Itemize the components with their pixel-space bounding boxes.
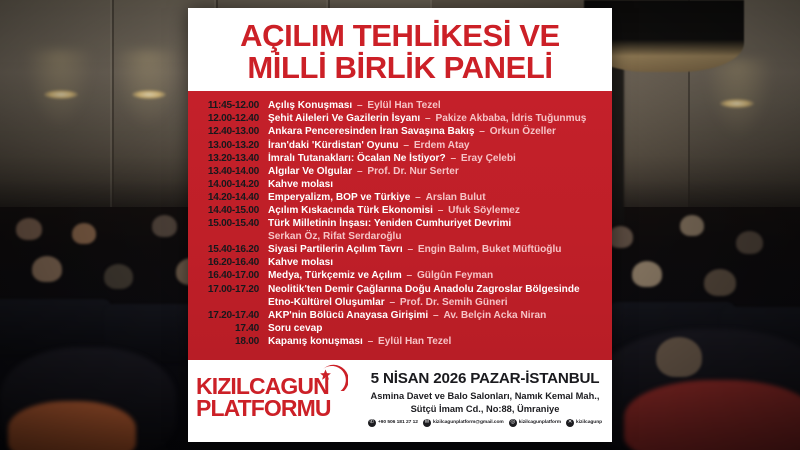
schedule-speaker: Arslan Bulut [426,192,486,203]
schedule-list: 11:45-12.00Açılış Konuşması – Eylül Han … [188,91,612,360]
contact-bar: ✆+90 506 181 27 12✉kizilcagunplatform@gm… [364,419,606,427]
schedule-topic: İran'daki 'Kürdistan' Oyunu [268,140,399,151]
schedule-topic: Medya, Türkçemiz ve Açılım [268,270,402,281]
event-date: 5 NİSAN 2026 PAZAR-İSTANBUL [364,370,606,387]
schedule-row: 11:45-12.00Açılış Konuşması – Eylül Han … [196,99,598,112]
schedule-entry: Ankara Penceresinden İran Savaşına Bakış… [268,125,556,138]
schedule-topic: Soru cevap [268,323,322,334]
phone-icon: ✆ [368,419,376,427]
schedule-continuation-text: Serkan Öz, Rifat Serdaroğlu [268,231,402,242]
schedule-continuation-text: Etno-Kültürel Oluşumlar [268,297,385,308]
schedule-separator: – [352,166,367,177]
schedule-time: 17.20-17.40 [196,309,268,322]
schedule-row: 14.40-15.00Açılım Kıskacında Türk Ekonom… [196,204,598,217]
schedule-speaker: Eray Çelebi [461,153,516,164]
schedule-entry: Emperyalizm, BOP ve Türkiye – Arslan Bul… [268,191,486,204]
schedule-entry: Kahve molası [268,256,333,269]
schedule-row: 13.20-13.40İmralı Tutanakları: Öcalan Ne… [196,152,598,165]
crescent-star-icon [314,363,348,397]
organization-logo: KIZILCAGUN PLATFORMU [196,367,364,419]
schedule-row: 17.20-17.40AKP'nin Bölücü Anayasa Girişi… [196,309,598,322]
schedule-row: 18.00Kapanış konuşması – Eylül Han Tezel [196,335,598,348]
schedule-topic: Kapanış konuşması [268,336,363,347]
schedule-entry: İmralı Tutanakları: Öcalan Ne İstiyor? –… [268,152,516,165]
schedule-row-continuation: Serkan Öz, Rifat Serdaroğlu [196,230,598,243]
schedule-topic: Emperyalizm, BOP ve Türkiye [268,192,410,203]
schedule-entry: Şehit Aileleri Ve Gazilerin İsyanı – Pak… [268,112,586,125]
schedule-speaker: Prof. Dr. Semih Güneri [400,297,508,308]
schedule-separator: – [385,297,400,308]
schedule-topic: Kahve molası [268,257,333,268]
contact-text: kizilcagunp [576,420,602,425]
schedule-separator: – [403,244,418,255]
schedule-entry: Medya, Türkçemiz ve Açılım – Gülgûn Feym… [268,269,493,282]
schedule-time: 15.40-16.20 [196,243,268,256]
poster-title-line-1: AÇILIM TEHLİKESİ VE [198,20,602,52]
schedule-speaker: Av. Belçin Acka Niran [443,310,546,321]
schedule-separator: – [410,192,425,203]
schedule-speaker: Pakize Akbaba, İdris Tuğunmuş [435,113,586,124]
schedule-time: 13.00-13.20 [196,139,268,152]
schedule-entry-continuation: Etno-Kültürel Oluşumlar – Prof. Dr. Semi… [268,296,508,309]
instagram-icon: ◎ [509,419,517,427]
schedule-time: 17.40 [196,322,268,335]
schedule-entry: İran'daki 'Kürdistan' Oyunu – Erdem Atay [268,139,470,152]
venue-address-line-2: Sütçü İmam Cd., No:88, Ümraniye [364,403,606,415]
contact-item[interactable]: ✕kizilcagunp [566,419,602,427]
contact-text: kizilcagunplatform [519,420,561,425]
schedule-row: 13.40-14.00Algılar Ve Olgular – Prof. Dr… [196,165,598,178]
contact-text: +90 506 181 27 12 [378,420,418,425]
schedule-topic: AKP'nin Bölücü Anayasa Girişimi [268,310,428,321]
schedule-entry: Türk Milletinin İnşası: Yeniden Cumhuriy… [268,217,511,230]
schedule-separator: – [420,113,435,124]
schedule-entry: Kapanış konuşması – Eylül Han Tezel [268,335,451,348]
schedule-topic: İmralı Tutanakları: Öcalan Ne İstiyor? [268,153,446,164]
schedule-speaker: Eylül Han Tezel [378,336,451,347]
schedule-row-continuation: Etno-Kültürel Oluşumlar – Prof. Dr. Semi… [196,296,598,309]
schedule-row: 12.40-13.00Ankara Penceresinden İran Sav… [196,125,598,138]
contact-item[interactable]: ✉kizilcagunplatform@gmail.com [423,419,504,427]
schedule-time: 18.00 [196,335,268,348]
schedule-time: 14.20-14.40 [196,191,268,204]
poster-title: AÇILIM TEHLİKESİ VE MİLLİ BİRLİK PANELİ [188,8,612,91]
schedule-separator: – [433,205,448,216]
poster-title-line-2: MİLLİ BİRLİK PANELİ [198,52,602,84]
schedule-topic: Siyasi Partilerin Açılım Tavrı [268,244,403,255]
schedule-time: 13.40-14.00 [196,165,268,178]
schedule-time: 14.00-14.20 [196,178,268,191]
poster-footer: KIZILCAGUN PLATFORMU 5 NİSAN 2026 PAZAR-… [188,360,612,442]
schedule-entry: Açılış Konuşması – Eylül Han Tezel [268,99,441,112]
schedule-separator: – [428,310,443,321]
schedule-topic: Açılım Kıskacında Türk Ekonomisi [268,205,433,216]
schedule-time: 16.20-16.40 [196,256,268,269]
schedule-row: 13.00-13.20İran'daki 'Kürdistan' Oyunu –… [196,139,598,152]
schedule-time: 15.00-15.40 [196,217,268,230]
schedule-time: 17.00-17.20 [196,283,268,296]
schedule-time: 16.40-17.00 [196,269,268,282]
schedule-speaker: Engin Balım, Buket Müftüoğlu [418,244,562,255]
schedule-separator: – [399,140,414,151]
schedule-speaker: Gülgûn Feyman [417,270,493,281]
schedule-entry-continuation: Serkan Öz, Rifat Serdaroğlu [268,230,402,243]
schedule-row: 16.40-17.00Medya, Türkçemiz ve Açılım – … [196,269,598,282]
schedule-entry: Kahve molası [268,178,333,191]
schedule-row: 12.00-12.40Şehit Aileleri Ve Gazilerin İ… [196,112,598,125]
schedule-separator: – [446,153,461,164]
schedule-speaker: Eylül Han Tezel [367,100,440,111]
twitter-icon: ✕ [566,419,574,427]
schedule-separator: – [402,270,417,281]
schedule-row: 17.00-17.20Neolitik'ten Demir Çağlarına … [196,283,598,296]
schedule-entry: Siyasi Partilerin Açılım Tavrı – Engin B… [268,243,561,256]
event-poster: AÇILIM TEHLİKESİ VE MİLLİ BİRLİK PANELİ … [188,8,612,442]
schedule-entry: Algılar Ve Olgular – Prof. Dr. Nur Serte… [268,165,459,178]
schedule-row: 15.40-16.20Siyasi Partilerin Açılım Tavr… [196,243,598,256]
schedule-speaker: Erdem Atay [414,140,470,151]
schedule-topic: Ankara Penceresinden İran Savaşına Bakış [268,126,474,137]
schedule-speaker: Prof. Dr. Nur Serter [367,166,458,177]
schedule-separator: – [363,336,378,347]
schedule-topic: Kahve molası [268,179,333,190]
schedule-entry: Açılım Kıskacında Türk Ekonomisi – Ufuk … [268,204,520,217]
schedule-time: 11:45-12.00 [196,99,268,112]
event-info: 5 NİSAN 2026 PAZAR-İSTANBUL Asmina Davet… [364,367,606,427]
contact-item[interactable]: ✆+90 506 181 27 12 [368,419,418,427]
schedule-topic: Neolitik'ten Demir Çağlarına Doğu Anadol… [268,284,580,295]
logo-line-2: PLATFORMU [196,397,364,419]
venue-address-line-1: Asmina Davet ve Balo Salonları, Namık Ke… [364,390,606,402]
schedule-row: 15.00-15.40Türk Milletinin İnşası: Yenid… [196,217,598,230]
schedule-entry: Neolitik'ten Demir Çağlarına Doğu Anadol… [268,283,580,296]
schedule-row: 14.20-14.40Emperyalizm, BOP ve Türkiye –… [196,191,598,204]
schedule-row: 16.20-16.40Kahve molası [196,256,598,269]
schedule-entry: AKP'nin Bölücü Anayasa Girişimi – Av. Be… [268,309,546,322]
schedule-speaker: Ufuk Söylemez [448,205,520,216]
schedule-topic: Şehit Aileleri Ve Gazilerin İsyanı [268,113,420,124]
schedule-entry: Soru cevap [268,322,322,335]
contact-text: kizilcagunplatform@gmail.com [433,420,504,425]
email-icon: ✉ [423,419,431,427]
schedule-time: 13.20-13.40 [196,152,268,165]
contact-item[interactable]: ◎kizilcagunplatform [509,419,561,427]
schedule-row: 17.40Soru cevap [196,322,598,335]
schedule-separator: – [352,100,367,111]
schedule-row: 14.00-14.20Kahve molası [196,178,598,191]
schedule-time: 12.40-13.00 [196,125,268,138]
schedule-topic: Türk Milletinin İnşası: Yeniden Cumhuriy… [268,218,511,229]
schedule-separator: – [474,126,489,137]
schedule-topic: Algılar Ve Olgular [268,166,352,177]
schedule-speaker: Orkun Özeller [490,126,556,137]
schedule-topic: Açılış Konuşması [268,100,352,111]
schedule-time: 12.00-12.40 [196,112,268,125]
schedule-time: 14.40-15.00 [196,204,268,217]
